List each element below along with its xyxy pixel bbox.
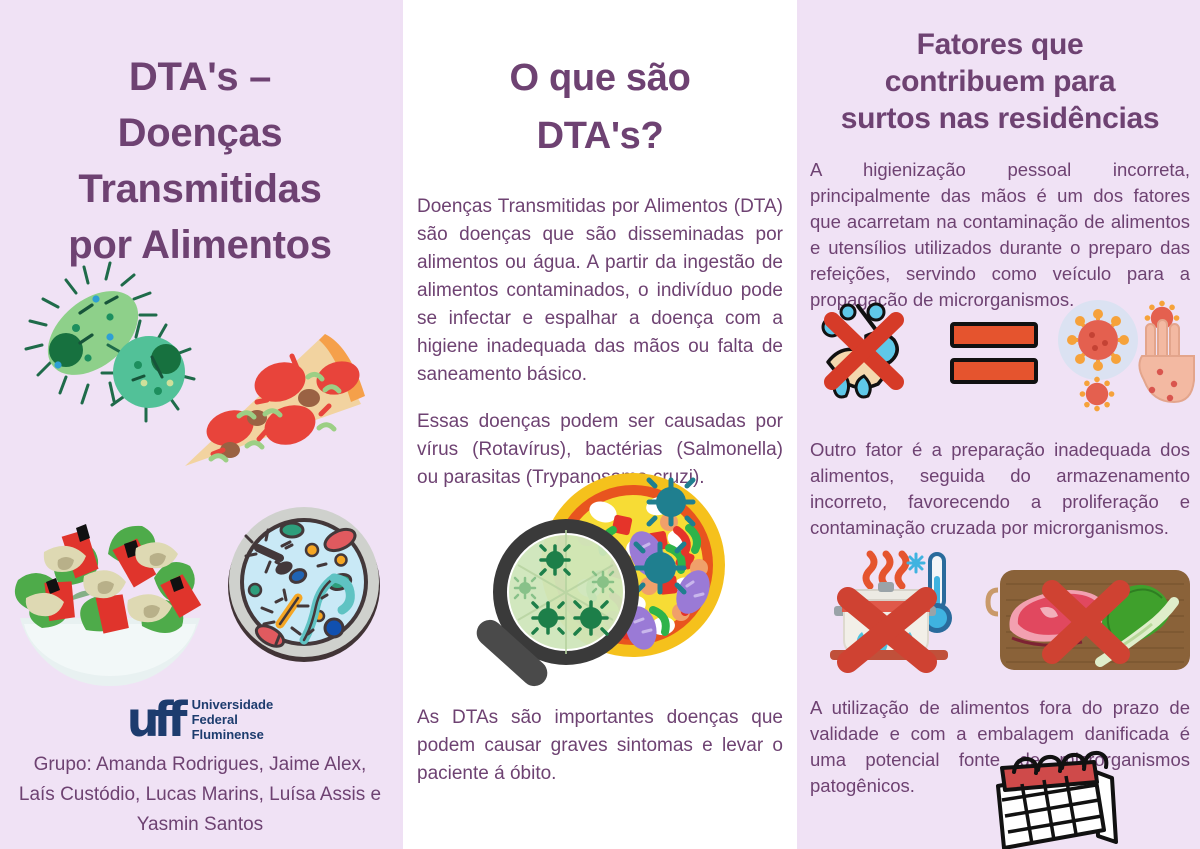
middle-paragraph-1: Doenças Transmitidas por Alimentos (DTA)… bbox=[403, 193, 797, 389]
middle-paragraph-3: As DTAs são importantes doenças que pode… bbox=[403, 704, 797, 788]
unwashed-hands-crossed-icon bbox=[814, 300, 934, 400]
petri-dish-illustration bbox=[222, 502, 387, 667]
title-line: Transmitidas bbox=[78, 167, 321, 211]
title-line: O que são bbox=[509, 57, 690, 99]
title-line: Doenças bbox=[118, 111, 283, 155]
right-paragraph-2: Outro fator é a preparação inadequada do… bbox=[800, 437, 1200, 541]
brochure: DTA's – Doenças Transmitidas por Aliment… bbox=[0, 0, 1200, 849]
uff-line-2: Federal bbox=[192, 712, 238, 727]
page-title-left: DTA's – Doenças Transmitidas por Aliment… bbox=[0, 27, 400, 273]
calendar-icon bbox=[990, 756, 1126, 849]
pizza-magnifier-illustration bbox=[463, 470, 753, 690]
title-line: DTA's – bbox=[129, 55, 271, 99]
uff-wordmark: uff bbox=[127, 695, 182, 743]
pizza-slice-illustration bbox=[175, 330, 370, 495]
title-line: contribuem para bbox=[885, 65, 1116, 98]
uff-line-3: Fluminense bbox=[192, 727, 264, 742]
virus-on-hand-icon bbox=[1052, 298, 1200, 408]
title-line: surtos nas residências bbox=[841, 102, 1160, 135]
salad-bowl-illustration bbox=[2, 490, 217, 690]
title-line: DTA's? bbox=[537, 115, 664, 157]
equals-sign-icon bbox=[948, 318, 1040, 388]
panel-right: Fatores que contribuem para surtos nas r… bbox=[800, 0, 1200, 849]
panel-left: DTA's – Doenças Transmitidas por Aliment… bbox=[0, 0, 400, 849]
page-title-right: Fatores que contribuem para surtos nas r… bbox=[800, 20, 1200, 137]
group-credits: Grupo: Amanda Rodrigues, Jaime Alex, Laí… bbox=[0, 742, 400, 840]
uff-logo-text: Universidade Federal Fluminense bbox=[192, 697, 274, 742]
page-title-middle: O que são DTA's? bbox=[403, 25, 797, 165]
title-line: Fatores que bbox=[917, 28, 1084, 61]
uff-line-1: Universidade bbox=[192, 697, 274, 712]
uff-logo: uff Universidade Federal Fluminense bbox=[0, 696, 400, 742]
panel-middle: O que são DTA's? Doenças Transmitidas po… bbox=[400, 0, 800, 849]
hot-pot-crossed-icon bbox=[814, 550, 984, 680]
right-paragraph-1: A higienização pessoal incorreta, princi… bbox=[800, 157, 1200, 313]
raw-meat-cutting-board-icon bbox=[990, 562, 1195, 682]
